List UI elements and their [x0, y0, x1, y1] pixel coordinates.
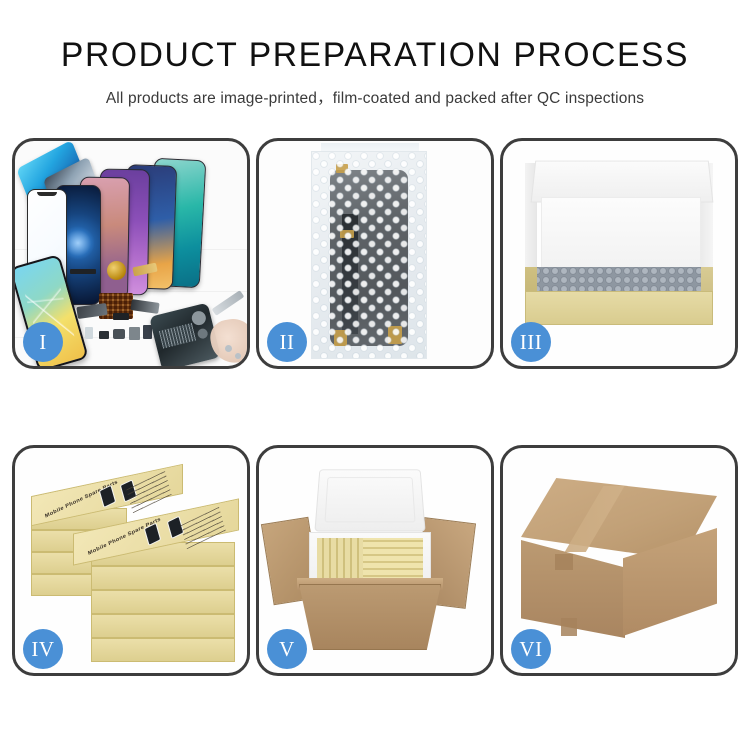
panel-products-and-parts: I — [12, 138, 250, 369]
box-front-panel — [525, 291, 713, 325]
stacked-box — [91, 638, 235, 662]
small-part-2 — [99, 331, 109, 339]
step-badge: I — [23, 322, 63, 362]
foam-lid — [314, 469, 425, 531]
panel-sealed-carton: VI — [500, 445, 738, 676]
page-subtitle: All products are image-printed，film-coat… — [0, 86, 750, 108]
step-badge: V — [267, 629, 307, 669]
small-part-6 — [113, 313, 129, 320]
earpiece-speaker — [70, 269, 96, 274]
stacked-box — [91, 590, 235, 614]
panel-bubble-wrapped-screen: II — [256, 138, 494, 369]
vibration-motor — [107, 261, 126, 280]
panel-foam-lined-carton: V — [256, 445, 494, 676]
carton-corner-patch-top — [555, 554, 573, 570]
step-badge: III — [511, 322, 551, 362]
panel-stacked-inner-boxes: Mobile Phone Spare Parts Mobile Phone Sp… — [12, 445, 250, 676]
carton-corner-patch-bottom — [561, 618, 577, 636]
foam-sheet — [541, 197, 701, 271]
small-part-3 — [113, 329, 125, 339]
screw-2 — [235, 353, 241, 359]
header: PRODUCT PREPARATION PROCESS All products… — [0, 0, 750, 108]
bubble-texture — [312, 152, 426, 358]
panel-open-inner-box: III — [500, 138, 738, 369]
step-badge: VI — [511, 629, 551, 669]
flex-cable-right — [130, 299, 159, 314]
small-part-4 — [129, 327, 140, 340]
product-preparation-infographic: PRODUCT PREPARATION PROCESS All products… — [0, 0, 750, 750]
inner-boxes-row-2 — [363, 538, 423, 582]
stacked-box — [91, 566, 235, 590]
bubble-bag — [311, 151, 427, 359]
page-title: PRODUCT PREPARATION PROCESS — [4, 38, 747, 74]
small-part-1 — [85, 327, 93, 339]
step-badge: IV — [23, 629, 63, 669]
step-badge: II — [267, 322, 307, 362]
tweezers-icon — [212, 290, 245, 316]
carton-front-panel — [299, 584, 441, 650]
process-step-grid: I II — [12, 138, 738, 694]
stacked-box — [91, 614, 235, 638]
screw-1 — [225, 345, 232, 352]
